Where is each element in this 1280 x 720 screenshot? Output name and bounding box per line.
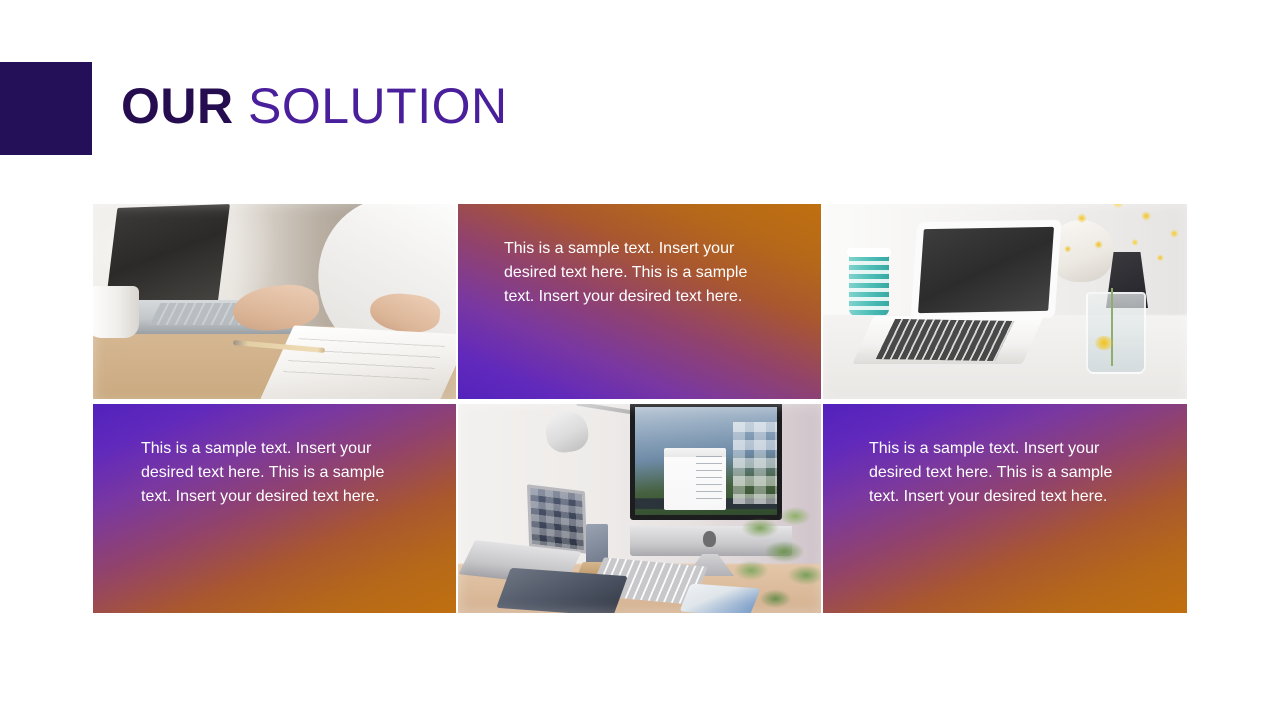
- coffee-cup-lid-shape: [847, 248, 891, 257]
- page-title-strong: OUR: [121, 78, 234, 134]
- grid-cell-top-right[interactable]: [823, 204, 1187, 404]
- coffee-mug-shape: [93, 286, 139, 338]
- grid-cell-top-left[interactable]: [93, 204, 458, 404]
- title-accent-square: [0, 62, 92, 155]
- laptop-screen-shape: [527, 484, 587, 553]
- grid-cell-bottom-right[interactable]: This is a sample text. Insert your desir…: [823, 404, 1187, 613]
- imac-desktop-icons-shape: [733, 422, 777, 504]
- tile-body-text-bottom-right: This is a sample text. Insert your desir…: [869, 437, 1141, 509]
- glass-jar-shape: [1086, 292, 1146, 374]
- tile-body-text-top-center: This is a sample text. Insert your desir…: [504, 237, 776, 309]
- yellow-flowers-shape: [1051, 204, 1187, 304]
- page-title: OUR SOLUTION: [121, 76, 508, 136]
- photo-woman-typing-on-laptop-at-desk: [93, 204, 458, 404]
- imac-window-list-lines: [696, 456, 722, 504]
- presentation-slide: OUR SOLUTION This is a sample text. In: [0, 0, 1280, 720]
- desk-lamp-head-shape: [543, 409, 590, 454]
- content-grid: This is a sample text. Insert your desir…: [93, 204, 1187, 613]
- low-flower-shape: [1095, 336, 1113, 350]
- flower-stem-shape: [1111, 288, 1113, 366]
- apple-logo-icon: [703, 531, 716, 547]
- patterned-coffee-cup-shape: [849, 252, 889, 316]
- page-title-light: SOLUTION: [234, 78, 508, 134]
- laptop-keyboard-shape: [876, 319, 1014, 361]
- drawing-tablet-shape: [496, 568, 628, 613]
- houseplant-shape: [727, 502, 823, 613]
- tile-body-text-bottom-left: This is a sample text. Insert your desir…: [141, 437, 413, 509]
- photo-imac-laptop-desk-workstation: [458, 404, 823, 613]
- grid-cell-top-center[interactable]: This is a sample text. Insert your desir…: [458, 204, 823, 404]
- grid-cell-bottom-center[interactable]: [458, 404, 823, 613]
- photo-white-laptop-coffee-cup-yellow-flowers: [823, 204, 1187, 404]
- grid-cell-bottom-left[interactable]: This is a sample text. Insert your desir…: [93, 404, 458, 613]
- laptop-screen-shape: [918, 227, 1054, 313]
